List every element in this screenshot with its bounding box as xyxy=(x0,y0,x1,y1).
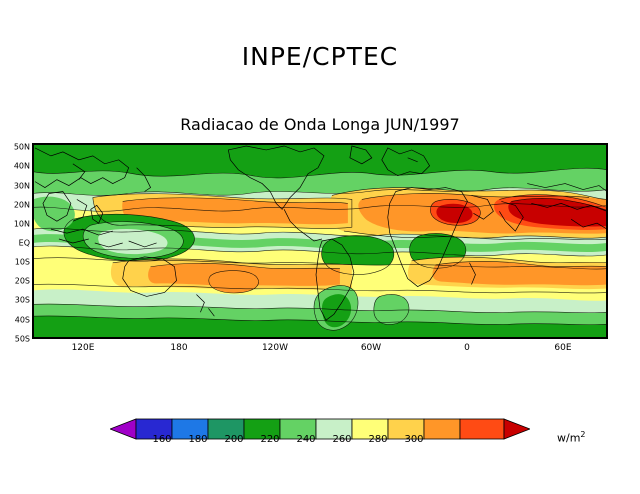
units-exponent: 2 xyxy=(580,430,585,439)
x-tick-label: 0 xyxy=(464,343,470,353)
colorbar-segment xyxy=(504,419,530,439)
units-label: w/m2 xyxy=(557,430,586,445)
colorbar-segment xyxy=(424,419,460,439)
x-tick-label: 120W xyxy=(262,343,288,353)
y-tick-label: 50N xyxy=(2,143,30,152)
y-tick-label: 20S xyxy=(2,277,30,286)
colorbar-segment xyxy=(460,419,504,439)
y-tick-label: 40S xyxy=(2,316,30,325)
colorbar-tick-label: 200 xyxy=(224,434,243,445)
colorbar-tick-label: 240 xyxy=(296,434,315,445)
colorbar xyxy=(110,418,530,440)
y-tick-label: EQ xyxy=(2,239,30,248)
colorbar-tick-label: 160 xyxy=(152,434,171,445)
colorbar-tick-label: 180 xyxy=(188,434,207,445)
y-tick-label: 40N xyxy=(2,162,30,171)
colorbar-tick-label: 260 xyxy=(332,434,351,445)
chart-title: Radiacao de Onda Longa JUN/1997 xyxy=(0,115,640,134)
y-tick-label: 20N xyxy=(2,201,30,210)
colorbar-segment xyxy=(110,419,136,439)
x-tick-label: 120E xyxy=(72,343,95,353)
y-tick-label: 50S xyxy=(2,335,30,344)
page-title: INPE/CPTEC xyxy=(0,42,640,71)
y-tick-label: 30N xyxy=(2,182,30,191)
y-tick-label: 10N xyxy=(2,220,30,229)
x-tick-label: 180 xyxy=(170,343,187,353)
x-tick-label: 60W xyxy=(361,343,381,353)
olr-map-panel xyxy=(32,143,608,339)
colorbar-tick-label: 280 xyxy=(368,434,387,445)
y-tick-label: 30S xyxy=(2,296,30,305)
olr-map xyxy=(33,144,607,338)
colorbar-tick-label: 220 xyxy=(260,434,279,445)
units-text: w/m xyxy=(557,432,580,445)
y-tick-label: 10S xyxy=(2,258,30,267)
x-tick-label: 60E xyxy=(554,343,571,353)
colorbar-svg xyxy=(110,418,530,440)
colorbar-tick-label: 300 xyxy=(404,434,423,445)
